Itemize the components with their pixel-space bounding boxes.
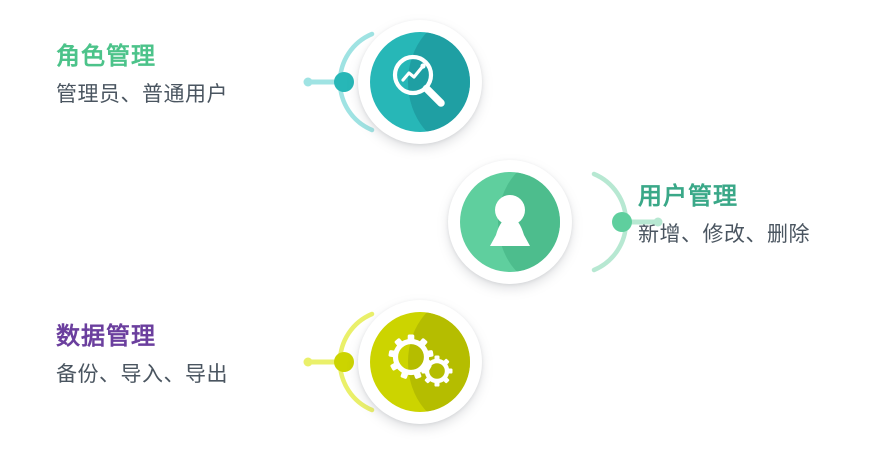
user-person-icon bbox=[460, 172, 560, 272]
medallion-disc bbox=[370, 32, 470, 132]
connector-node-dot bbox=[612, 212, 632, 232]
medallion-role-management[interactable] bbox=[358, 20, 482, 144]
medallion-data-management[interactable] bbox=[358, 300, 482, 424]
infographic-row-role-management: 角色管理 管理员、普通用户 bbox=[0, 12, 876, 152]
connector-node-dot bbox=[334, 352, 354, 372]
text-block-role-management: 角色管理 管理员、普通用户 bbox=[56, 40, 228, 110]
item-title-data-management: 数据管理 bbox=[56, 320, 228, 354]
item-title-role-management: 角色管理 bbox=[56, 40, 228, 74]
connector-user-management bbox=[556, 160, 680, 284]
infographic-row-data-management: 数据管理 备份、导入、导出 bbox=[0, 292, 876, 432]
connector-end-dot bbox=[304, 358, 313, 367]
medallion-user-management[interactable] bbox=[448, 160, 572, 284]
text-block-data-management: 数据管理 备份、导入、导出 bbox=[56, 320, 228, 390]
connector-end-dot bbox=[654, 218, 663, 227]
connector-node-dot bbox=[334, 72, 354, 92]
infographic-canvas: 角色管理 管理员、普通用户 bbox=[0, 0, 876, 475]
item-subtitle-role-management: 管理员、普通用户 bbox=[56, 80, 228, 110]
magnifier-chart-icon bbox=[370, 32, 470, 132]
connector-end-dot bbox=[304, 78, 313, 87]
item-subtitle-data-management: 备份、导入、导出 bbox=[56, 360, 228, 390]
medallion-disc bbox=[370, 312, 470, 412]
infographic-row-user-management: 用户管理 新增、修改、删除 bbox=[0, 152, 876, 292]
gears-icon bbox=[370, 312, 470, 412]
medallion-disc bbox=[460, 172, 560, 272]
